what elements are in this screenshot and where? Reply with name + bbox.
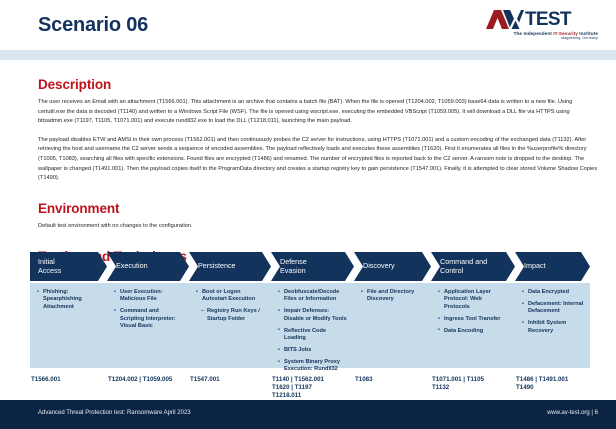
tactics-column-header-label: Impact: [524, 262, 546, 271]
logo-location: Magdeburg, Germany: [486, 36, 598, 40]
tactics-column: DiscoveryFile and Directory DiscoveryT10…: [354, 252, 431, 390]
header-divider-band: [0, 50, 616, 60]
logo-tagline-emphasis: IT-Security: [553, 31, 578, 36]
footer-url-page: www.av-test.org | 6: [547, 410, 598, 416]
av-chevron-icon: [486, 10, 524, 29]
tactics-column-header: Initial Access: [30, 252, 107, 281]
tactics-column-body: User Execution: Malicious FileCommand an…: [107, 283, 189, 368]
technique-ids: T1140 | T1562.001 T1620 | T1197 T1218.01…: [271, 376, 354, 400]
description-heading: Description: [38, 77, 616, 92]
logo-wordmark: TEST: [525, 10, 571, 29]
tactics-column-body: Data EncryptedDefacement: Internal Defac…: [515, 283, 590, 368]
technique-list-item: BITS Jobs: [278, 347, 348, 354]
technique-list-item: Data Encoding: [438, 328, 509, 335]
technique-list-item: System Binary Proxy Execution: Rundll32: [278, 359, 348, 374]
tactics-column-body: Phishing: Spearphishing Attachment: [30, 283, 107, 368]
page-title: Scenario 06: [38, 14, 148, 37]
page-header: Scenario 06 TEST The Independent IT-Secu…: [0, 0, 616, 50]
technique-ids: T1486 | T1491.001 T1490: [515, 376, 590, 392]
technique-ids: T1566.001: [30, 376, 107, 384]
logo-tagline: The Independent IT-Security Institute: [486, 31, 598, 36]
logo-tagline-pre: The Independent: [514, 31, 554, 36]
technique-list: User Execution: Malicious FileCommand an…: [114, 289, 183, 331]
technique-list-item: Impair Defenses: Disable or Modify Tools: [278, 308, 348, 323]
tactics-column-body: Application Layer Protocol: Web Protocol…: [431, 283, 515, 368]
tactics-column-header-label: Execution: [116, 262, 148, 271]
environment-heading: Environment: [38, 201, 616, 216]
logo-main: TEST: [486, 10, 598, 29]
page-content: Description The user receives an Email w…: [0, 60, 616, 264]
slide-page: Scenario 06 TEST The Independent IT-Secu…: [0, 0, 616, 429]
technique-list: Phishing: Spearphishing Attachment: [37, 289, 101, 311]
description-paragraph-2: The payload disables ETW and AMSI in the…: [38, 136, 598, 184]
technique-list-item: Defacement: Internal Defacement: [522, 301, 584, 316]
logo-tagline-post: Institute: [578, 31, 598, 36]
tactics-column: PersistenceBoot or Logon Autostart Execu…: [189, 252, 271, 390]
technique-list: Data EncryptedDefacement: Internal Defac…: [522, 289, 584, 335]
technique-list-item: Application Layer Protocol: Web Protocol…: [438, 289, 509, 311]
tactics-column: Command and ControlApplication Layer Pro…: [431, 252, 515, 390]
technique-list-item: Data Encrypted: [522, 289, 584, 296]
tactics-column-header: Defense Evasion: [271, 252, 354, 281]
technique-list: File and Directory Discovery: [361, 289, 425, 304]
tactics-column-header-label: Initial Access: [38, 258, 61, 275]
technique-ids: T1071.001 | T1105 T1132: [431, 376, 515, 392]
technique-ids: T1083: [354, 376, 431, 384]
tactics-column-header-label: Persistence: [198, 262, 236, 271]
technique-ids: T1204.002 | T1059.005: [107, 376, 189, 384]
technique-list: Deobfuscate/Decode Files or InformationI…: [278, 289, 348, 374]
technique-list-item: Command and Scripting Interpreter: Visua…: [114, 308, 183, 330]
tactics-column: Defense EvasionDeobfuscate/Decode Files …: [271, 252, 354, 390]
technique-ids: T1547.001: [189, 376, 271, 384]
technique-list-item: File and Directory Discovery: [361, 289, 425, 304]
tactics-column-header: Discovery: [354, 252, 431, 281]
tactics-column-body: Deobfuscate/Decode Files or InformationI…: [271, 283, 354, 368]
description-paragraph-1: The user receives an Email with an attac…: [38, 98, 598, 127]
technique-list-item: Ingress Tool Transfer: [438, 316, 509, 323]
tactics-column-header-label: Command and Control: [440, 258, 487, 275]
tactics-table: Initial AccessPhishing: Spearphishing At…: [30, 252, 600, 390]
avtest-logo: TEST The Independent IT-Security Institu…: [486, 10, 598, 42]
tactics-column-header: Command and Control: [431, 252, 515, 281]
technique-list-item: Inhibit System Recovery: [522, 320, 584, 335]
page-footer: Advanced Threat Protection test: Ransomw…: [0, 400, 616, 429]
footer-test-name: Advanced Threat Protection test: Ransomw…: [38, 410, 191, 416]
technique-list-item: User Execution: Malicious File: [114, 289, 183, 304]
tactics-column-body: Boot or Logon Autostart ExecutionRegistr…: [189, 283, 271, 368]
technique-list-item: Phishing: Spearphishing Attachment: [37, 289, 101, 311]
tactics-column-header-label: Discovery: [363, 262, 395, 271]
tactics-column-header: Persistence: [189, 252, 271, 281]
technique-list-item: Deobfuscate/Decode Files or Information: [278, 289, 348, 304]
tactics-column-header: Execution: [107, 252, 189, 281]
technique-list-item: Reflective Code Loading: [278, 328, 348, 343]
tactics-column-body: File and Directory Discovery: [354, 283, 431, 368]
tactics-column: ImpactData EncryptedDefacement: Internal…: [515, 252, 590, 390]
technique-list: Boot or Logon Autostart ExecutionRegistr…: [196, 289, 265, 323]
tactics-column-header: Impact: [515, 252, 590, 281]
tactics-column: Initial AccessPhishing: Spearphishing At…: [30, 252, 107, 390]
technique-list-item: Boot or Logon Autostart Execution: [196, 289, 265, 304]
technique-list: Application Layer Protocol: Web Protocol…: [438, 289, 509, 335]
environment-paragraph: Default test environment with no changes…: [38, 222, 598, 232]
technique-list-item: Registry Run Keys / Startup Folder: [196, 308, 265, 323]
tactics-column-header-label: Defense Evasion: [280, 258, 307, 275]
tactics-column: ExecutionUser Execution: Malicious FileC…: [107, 252, 189, 390]
